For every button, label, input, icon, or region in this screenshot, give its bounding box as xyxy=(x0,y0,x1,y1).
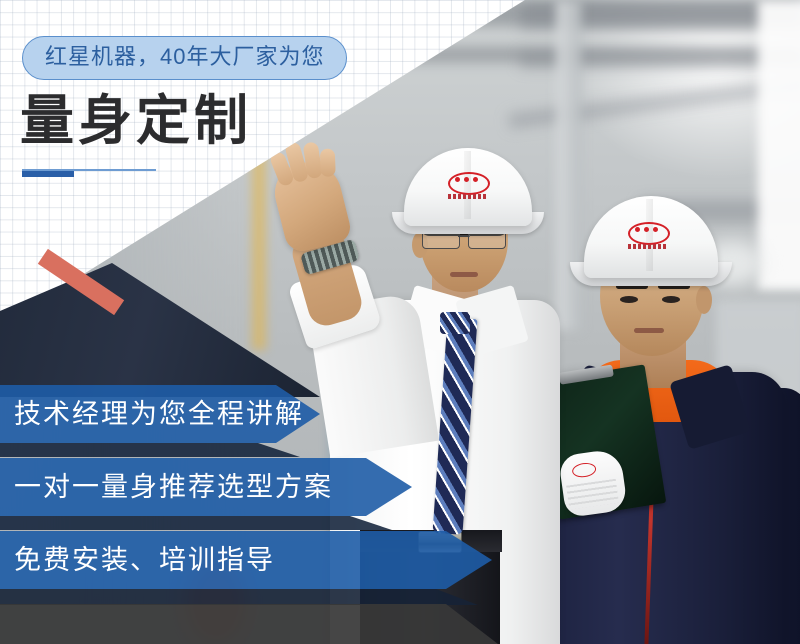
feature-banner-1: 技术经理为您全程讲解 xyxy=(0,385,320,443)
feature-banner-2-shadow xyxy=(0,516,392,530)
promo-banner: 红星机器，40年大厂家为您 量身定制 技术经理为您全程讲解 一对一量身推荐选型方… xyxy=(0,0,800,644)
bottom-charcoal-band xyxy=(0,604,498,644)
window-light xyxy=(758,0,800,290)
bottom-band-shadow xyxy=(0,589,478,605)
right-worker-mouth xyxy=(634,328,664,333)
feature-banner-1-shadow xyxy=(0,443,300,457)
left-worker-mouth xyxy=(450,272,478,277)
tagline-badge: 红星机器，40年大厂家为您 xyxy=(22,36,347,80)
right-worker-ear xyxy=(696,286,712,314)
feature-banner-3: 免费安装、培训指导 xyxy=(0,531,492,589)
page-title: 量身定制 xyxy=(20,94,252,148)
feature-banner-2: 一对一量身推荐选型方案 xyxy=(0,458,412,516)
left-worker-tie-knot xyxy=(440,312,470,334)
headline-underline-thick xyxy=(22,171,74,177)
